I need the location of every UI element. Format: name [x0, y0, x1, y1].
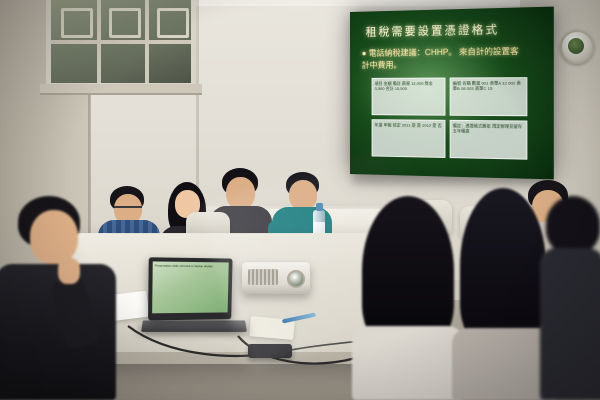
head — [30, 210, 78, 264]
hair — [460, 188, 546, 344]
slide-bullet-1: ● 電話納稅建議：CHHP。 來自計的設置客 — [362, 45, 545, 59]
person-right-edge — [540, 196, 600, 400]
head — [289, 180, 317, 210]
projector[interactable] — [242, 262, 310, 294]
hair — [362, 196, 454, 346]
slide-table-cell: 年度 申報 核定 2011 是 是 2012 是 否 — [372, 119, 446, 158]
power-brick — [248, 344, 292, 358]
photo-scene: 租稅需要設置憑證格式 ● 電話納稅建議：CHHP。 來自計的設置客 計中費用。 … — [0, 0, 600, 400]
window-grille-2 — [109, 8, 141, 38]
slide-table: 項目 金額 備註 薪資 12,000 獎金 3,500 合計 15,500 編號… — [372, 77, 528, 160]
bottle-cap — [316, 203, 323, 211]
slide-table-cell: 備註：憑證格式應依 規定辦理並留存 五年備查 — [450, 120, 528, 160]
window-transom — [51, 40, 191, 44]
projector-vent — [248, 269, 278, 285]
hand — [58, 258, 80, 284]
slide-table-cell: 編號 名稱 數量 001 表單A 12 002 表單B 08 003 表單C 1… — [450, 77, 528, 116]
person-foreground-left — [0, 196, 116, 400]
projection-screen: 租稅需要設置憑證格式 ● 電話納稅建議：CHHP。 來自計的設置客 計中費用。 … — [350, 7, 554, 180]
hair — [546, 196, 600, 254]
window-grille-1 — [61, 8, 93, 38]
head — [226, 177, 255, 209]
window-sill — [40, 84, 202, 95]
window — [46, 0, 196, 88]
glasses-icon — [114, 206, 142, 215]
projector-lens-icon — [287, 270, 305, 288]
wall-emblem-inner-icon — [568, 38, 584, 54]
torso — [352, 326, 464, 400]
wall-emblem-icon — [560, 30, 594, 64]
slide-bullet-2: 計中費用。 — [362, 58, 545, 71]
torso — [540, 248, 600, 400]
slide-table-cell: 項目 金額 備註 薪資 12,000 獎金 3,500 合計 15,500 — [372, 78, 446, 116]
person-foreground-center-right — [352, 196, 464, 400]
window-grille-3 — [157, 8, 189, 38]
slide-title: 租稅需要設置憑證格式 — [366, 20, 543, 40]
